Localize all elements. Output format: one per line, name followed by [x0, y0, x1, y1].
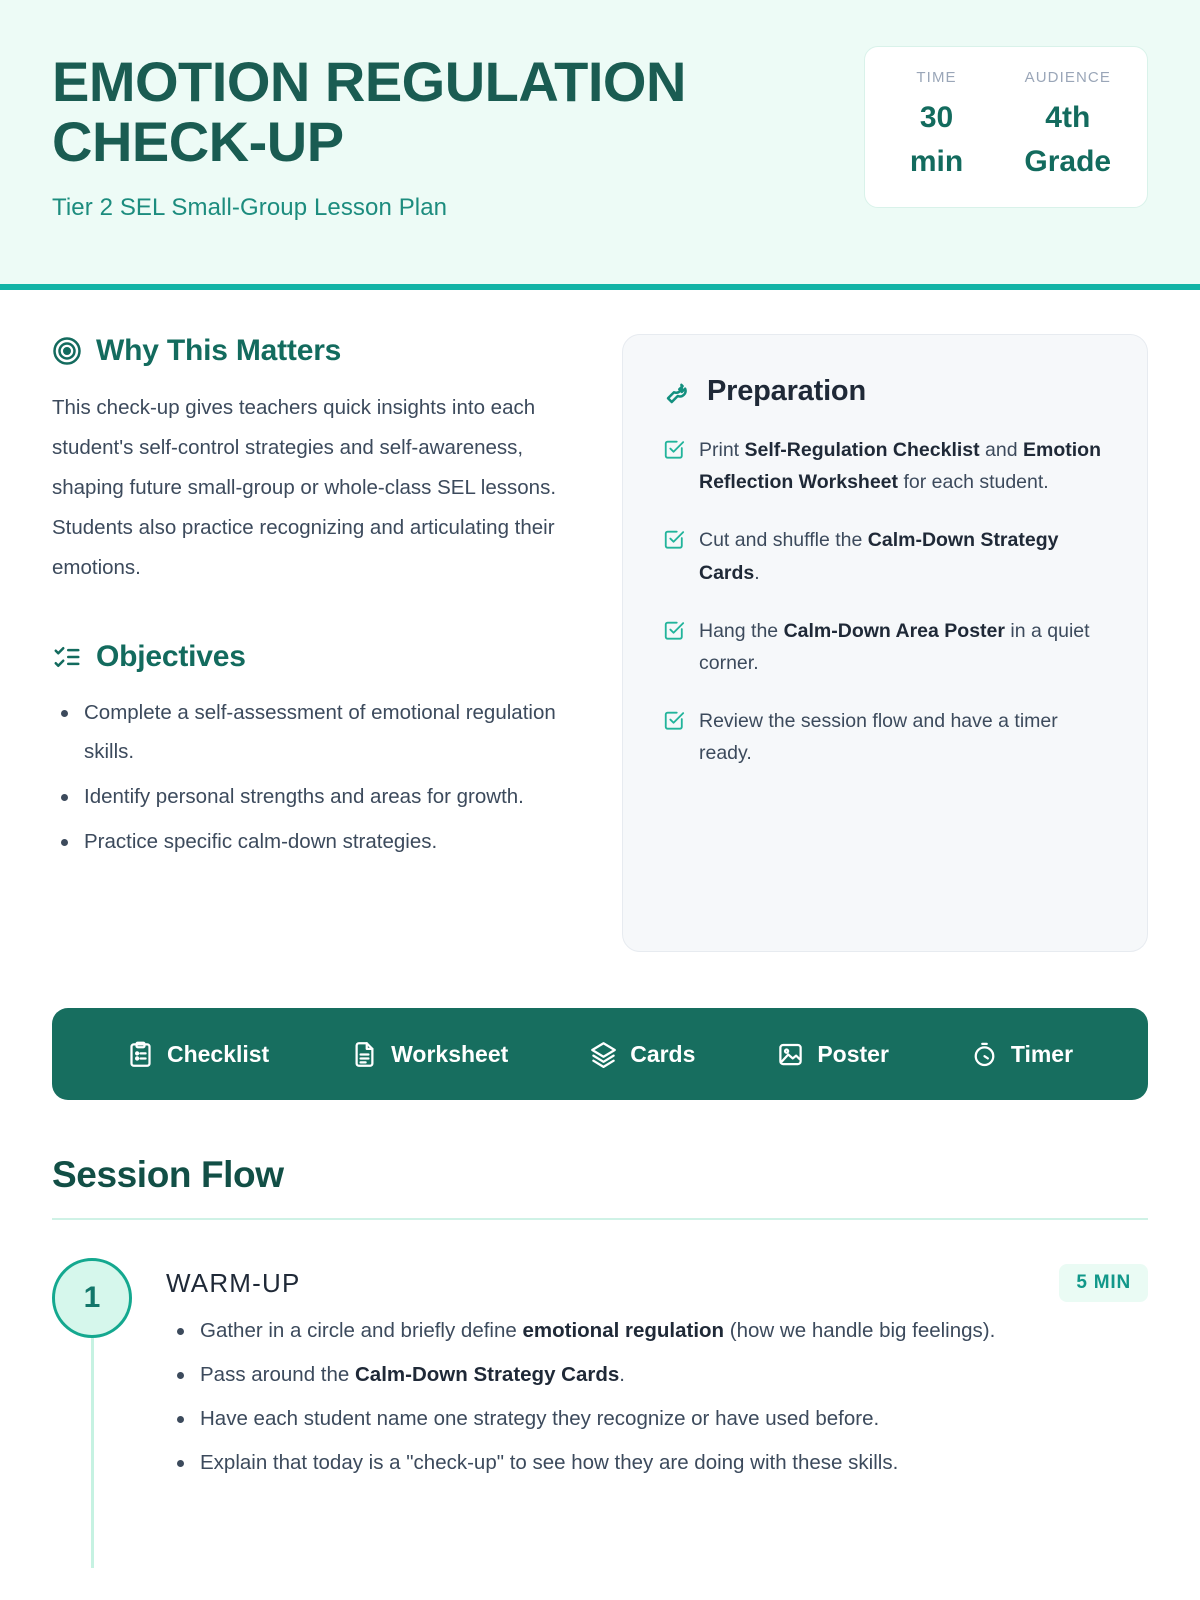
material-label: Checklist [167, 1041, 269, 1068]
layers-icon [590, 1041, 617, 1068]
material-label: Timer [1011, 1041, 1073, 1068]
step-marker: 1 [52, 1258, 134, 1488]
check-square-icon [663, 528, 685, 588]
meta-item-time: TIME 30 min [891, 69, 983, 183]
list-item: Have each student name one strategy they… [166, 1400, 1148, 1439]
materials-toolbar: Checklist Worksheet Cards [52, 1008, 1148, 1100]
objectives-title: Objectives [96, 640, 246, 674]
preparation-item: Print Self-Regulation Checklist and Emot… [663, 434, 1111, 498]
preparation-item-text: Print Self-Regulation Checklist and Emot… [699, 434, 1111, 498]
preparation-item: Review the session flow and have a timer… [663, 705, 1111, 769]
preparation-card: Preparation Print Self-Regulation Checkl… [622, 334, 1148, 952]
meta-label-audience: AUDIENCE [1015, 69, 1121, 86]
list-item: Practice specific calm-down strategies. [52, 823, 564, 862]
file-text-icon [351, 1041, 378, 1068]
image-icon [777, 1041, 804, 1068]
material-label: Worksheet [391, 1041, 508, 1068]
list-item: Gather in a circle and briefly define em… [166, 1312, 1148, 1351]
list-item: Pass around the Calm-Down Strategy Cards… [166, 1356, 1148, 1395]
check-square-icon [663, 709, 685, 769]
why-this-matters-text: This check-up gives teachers quick insig… [52, 388, 564, 588]
material-checklist[interactable]: Checklist [127, 1041, 269, 1068]
material-label: Cards [630, 1041, 695, 1068]
material-poster[interactable]: Poster [777, 1041, 889, 1068]
list-item: Explain that today is a "check-up" to se… [166, 1444, 1148, 1483]
preparation-item-text: Review the session flow and have a timer… [699, 705, 1111, 769]
target-icon [52, 336, 82, 366]
session-flow-title: Session Flow [52, 1154, 1148, 1196]
meta-value-audience: 4th Grade [1015, 96, 1121, 183]
preparation-item: Cut and shuffle the Calm-Down Strategy C… [663, 524, 1111, 588]
step-title: WARM-UP [166, 1268, 301, 1299]
header-title-block: EMOTION REGULATION CHECK-UP Tier 2 SEL S… [52, 46, 864, 222]
objectives-list: Complete a self-assessment of emotional … [52, 694, 564, 862]
material-worksheet[interactable]: Worksheet [351, 1041, 508, 1068]
meta-value-time: 30 min [891, 96, 983, 183]
lesson-meta-card: TIME 30 min AUDIENCE 4th Grade [864, 46, 1148, 208]
preparation-item-text: Cut and shuffle the Calm-Down Strategy C… [699, 524, 1111, 588]
step-body: WARM-UP 5 MIN Gather in a circle and bri… [166, 1258, 1148, 1488]
step-duration-badge: 5 MIN [1059, 1264, 1148, 1302]
material-cards[interactable]: Cards [590, 1041, 695, 1068]
why-this-matters-header: Why This Matters [52, 334, 564, 368]
page-title: EMOTION REGULATION CHECK-UP [52, 52, 864, 172]
step-header: WARM-UP 5 MIN [166, 1264, 1148, 1302]
stopwatch-icon [971, 1041, 998, 1068]
preparation-list: Print Self-Regulation Checklist and Emot… [663, 434, 1111, 769]
page-subtitle: Tier 2 SEL Small-Group Lesson Plan [52, 194, 864, 222]
session-step-1: 1 WARM-UP 5 MIN Gather in a circle and b… [52, 1258, 1148, 1488]
step-connector-line [91, 1338, 94, 1568]
step-number-badge: 1 [52, 1258, 132, 1338]
meta-label-time: TIME [891, 69, 983, 86]
session-flow-divider [52, 1218, 1148, 1220]
check-square-icon [663, 619, 685, 679]
page-header: EMOTION REGULATION CHECK-UP Tier 2 SEL S… [0, 0, 1200, 290]
preparation-title: Preparation [707, 375, 866, 408]
list-item: Identify personal strengths and areas fo… [52, 778, 564, 817]
clipboard-list-icon [127, 1041, 154, 1068]
meta-item-audience: AUDIENCE 4th Grade [1015, 69, 1121, 183]
objectives-header: Objectives [52, 640, 564, 674]
preparation-item-text: Hang the Calm-Down Area Poster in a quie… [699, 615, 1111, 679]
material-label: Poster [817, 1041, 889, 1068]
left-column: Why This Matters This check-up gives tea… [52, 334, 564, 868]
preparation-item: Hang the Calm-Down Area Poster in a quie… [663, 615, 1111, 679]
list-item: Complete a self-assessment of emotional … [52, 694, 564, 772]
step-bullet-list: Gather in a circle and briefly define em… [166, 1312, 1148, 1483]
list-checks-icon [52, 642, 82, 672]
why-this-matters-title: Why This Matters [96, 334, 341, 368]
preparation-header: Preparation [663, 375, 1111, 408]
wrench-icon [663, 377, 693, 407]
main-content: Why This Matters This check-up gives tea… [0, 290, 1200, 1488]
right-column: Preparation Print Self-Regulation Checkl… [622, 334, 1148, 952]
check-square-icon [663, 438, 685, 498]
material-timer[interactable]: Timer [971, 1041, 1073, 1068]
